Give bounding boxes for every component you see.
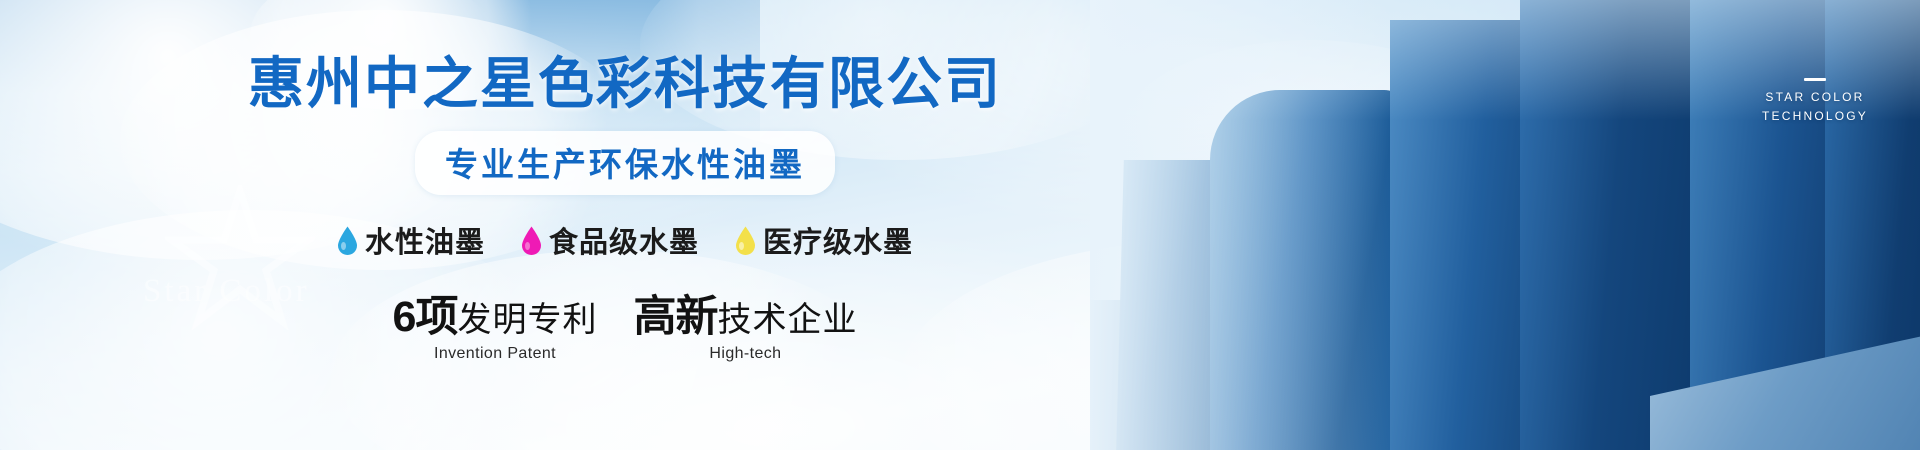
- badge-subtitle: High-tech: [633, 345, 857, 363]
- water-drop-icon: [735, 226, 756, 255]
- logo-line-2: TECHNOLOGY: [1762, 107, 1868, 126]
- ink-type-label: 医疗级水墨: [763, 219, 913, 261]
- company-banner: Star Color STAR COLOR TECHNOLOGY 惠州中之星色彩…: [0, 0, 1920, 450]
- badge-high-tech: 高新技术企业 High-tech: [633, 295, 857, 362]
- subtitle-pill: 专业生产环保水性油墨: [415, 131, 835, 195]
- star-color-logo: STAR COLOR TECHNOLOGY: [1762, 78, 1868, 125]
- badge-main-text: 6项发明专利: [393, 295, 598, 340]
- logo-dash: [1804, 78, 1826, 81]
- badge-subtitle: Invention Patent: [393, 345, 598, 363]
- water-drop-icon: [337, 226, 358, 255]
- ink-type-item: 水性油墨: [337, 219, 485, 261]
- badge-rest: 发明专利: [457, 301, 597, 339]
- banner-content: 惠州中之星色彩科技有限公司 专业生产环保水性油墨 水性油墨 食品级水墨: [0, 0, 1250, 450]
- building-tower-tall: [1520, 0, 1705, 450]
- ink-type-label: 水性油墨: [365, 219, 485, 261]
- building-block: [1390, 20, 1540, 450]
- badge-highlight: 6项: [393, 293, 458, 341]
- water-drop-icon: [521, 226, 542, 255]
- credential-badges: 6项发明专利 Invention Patent 高新技术企业 High-tech: [393, 295, 858, 362]
- ink-type-item: 医疗级水墨: [735, 219, 913, 261]
- badge-rest: 技术企业: [717, 301, 857, 339]
- logo-line-1: STAR COLOR: [1762, 88, 1868, 107]
- badge-invention-patent: 6项发明专利 Invention Patent: [393, 295, 598, 362]
- badge-highlight: 高新: [633, 293, 717, 341]
- ink-type-list: 水性油墨 食品级水墨 医疗级水墨: [337, 219, 913, 261]
- company-title: 惠州中之星色彩科技有限公司: [248, 54, 1002, 113]
- ink-type-item: 食品级水墨: [521, 219, 699, 261]
- badge-main-text: 高新技术企业: [633, 295, 857, 340]
- ink-type-label: 食品级水墨: [549, 219, 699, 261]
